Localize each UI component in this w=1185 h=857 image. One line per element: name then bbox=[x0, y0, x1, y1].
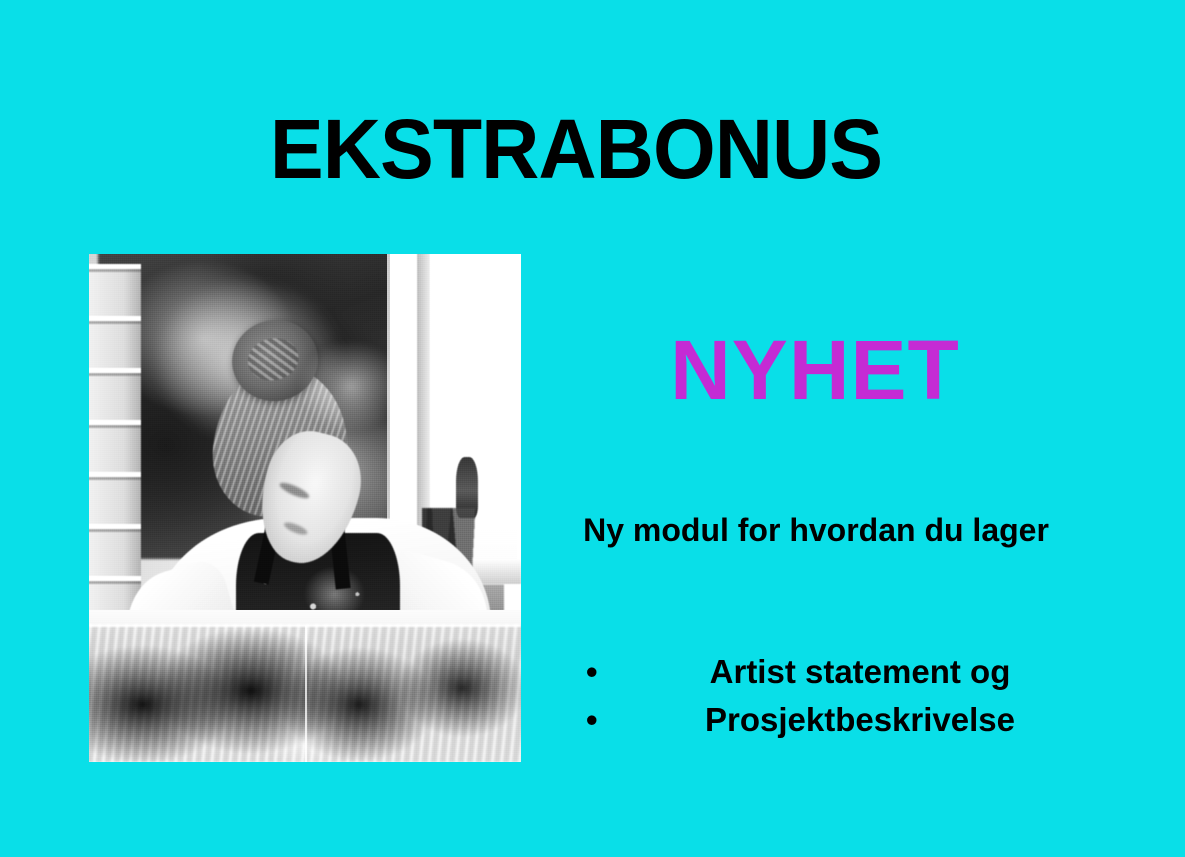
list-item: • Prosjektbeskrivelse bbox=[576, 696, 1056, 744]
bullet-icon: • bbox=[586, 696, 600, 744]
photo-film-grain bbox=[89, 254, 521, 762]
list-item: • Artist statement og bbox=[576, 648, 1056, 696]
list-item-label: Prosjektbeskrivelse bbox=[676, 696, 1056, 744]
subheading: Ny modul for hvordan du lager bbox=[576, 508, 1056, 552]
page-title: EKSTRABONUS bbox=[23, 107, 1129, 191]
feature-list: • Artist statement og • Prosjektbeskrive… bbox=[576, 648, 1056, 744]
studio-photo-image bbox=[89, 254, 521, 762]
list-item-label: Artist statement og bbox=[676, 648, 1056, 696]
studio-photo bbox=[89, 254, 521, 762]
slide-canvas: EKSTRABONUS bbox=[0, 0, 1185, 857]
bullet-icon: • bbox=[586, 648, 600, 696]
status-badge: NYHET bbox=[575, 328, 1055, 412]
